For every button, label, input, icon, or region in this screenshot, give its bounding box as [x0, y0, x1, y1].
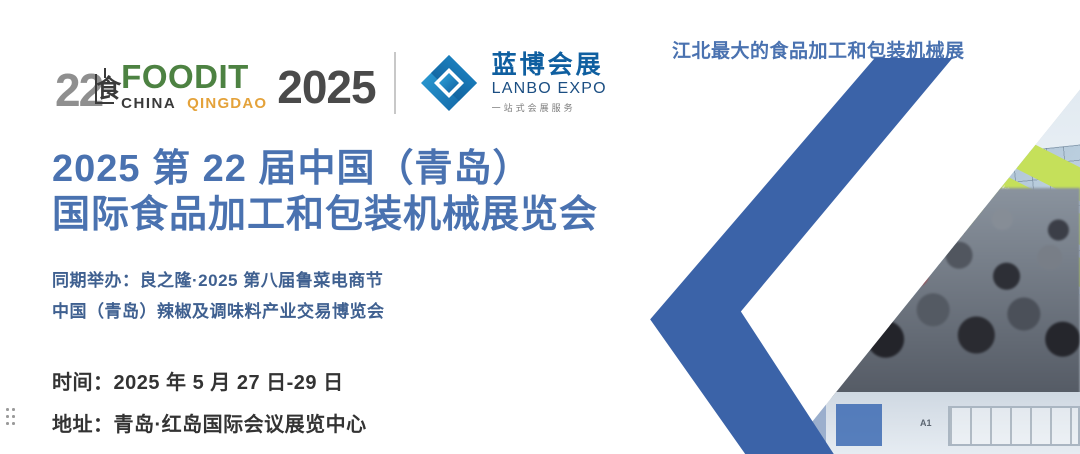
lanbo-tagline: 一站式会展服务: [492, 101, 607, 114]
booth-panel: [836, 404, 882, 446]
foodit-logo: 22 食 FOODIT CHINA QINGDAO 2025: [55, 54, 376, 112]
foodit-city: QINGDAO: [187, 95, 267, 112]
emblem-glyph: 食: [96, 76, 121, 101]
photo-banner-text-1: 食品博览: [953, 114, 995, 144]
lanbo-mark-icon: [418, 52, 480, 114]
logo-row: 22 食 FOODIT CHINA QINGDAO 2025: [55, 52, 607, 114]
foodit-locale: CHINA QINGDAO: [121, 95, 267, 112]
dot-grid-decoration: [6, 408, 18, 430]
lanbo-wordmark: 蓝博会展 LANBO EXPO 一站式会展服务: [492, 52, 607, 114]
lanbo-name-cn: 蓝博会展: [492, 52, 607, 79]
concurrent-events: 同期举办：良之隆·2025 第八届鲁菜电商节 中国（青岛）辣椒及调味料产业交易博…: [52, 265, 385, 327]
logo-divider: [394, 52, 396, 114]
foodit-country: CHINA: [121, 95, 176, 112]
food-emblem-icon: 食: [96, 72, 116, 112]
booth-rail: [948, 406, 1080, 446]
subtitle-line-2: 中国（青岛）辣椒及调味料产业交易博览会: [52, 296, 385, 327]
exhibition-poster: 22 食 FOODIT CHINA QINGDAO 2025: [0, 0, 1080, 454]
title-line-2: 国际食品加工和包装机械展览会: [52, 192, 598, 238]
title-line-1: 2025 第 22 届中国（青岛）: [52, 146, 598, 192]
lanbo-name-en: LANBO EXPO: [492, 80, 607, 98]
event-date: 时间：2025 年 5 月 27 日-29 日: [52, 362, 367, 404]
logo-year: 2025: [277, 64, 375, 112]
foodit-brand-name: FOODIT: [121, 61, 267, 93]
main-title: 2025 第 22 届中国（青岛） 国际食品加工和包装机械展览会: [52, 146, 598, 238]
lanbo-expo-logo: 蓝博会展 LANBO EXPO 一站式会展服务: [418, 52, 607, 114]
exhibition-photo: 食品博览 加工和包装机械展览会 青岛红岛国际会议展览中心 EXHIBITION …: [648, 58, 1080, 454]
booth-label: A1: [920, 418, 932, 428]
foodit-wordmark: FOODIT CHINA QINGDAO: [121, 61, 267, 112]
subtitle-line-1: 同期举办：良之隆·2025 第八届鲁菜电商节: [52, 265, 385, 296]
event-details: 时间：2025 年 5 月 27 日-29 日 地址：青岛·红岛国际会议展览中心: [52, 362, 367, 446]
event-venue: 地址：青岛·红岛国际会议展览中心: [52, 404, 367, 446]
